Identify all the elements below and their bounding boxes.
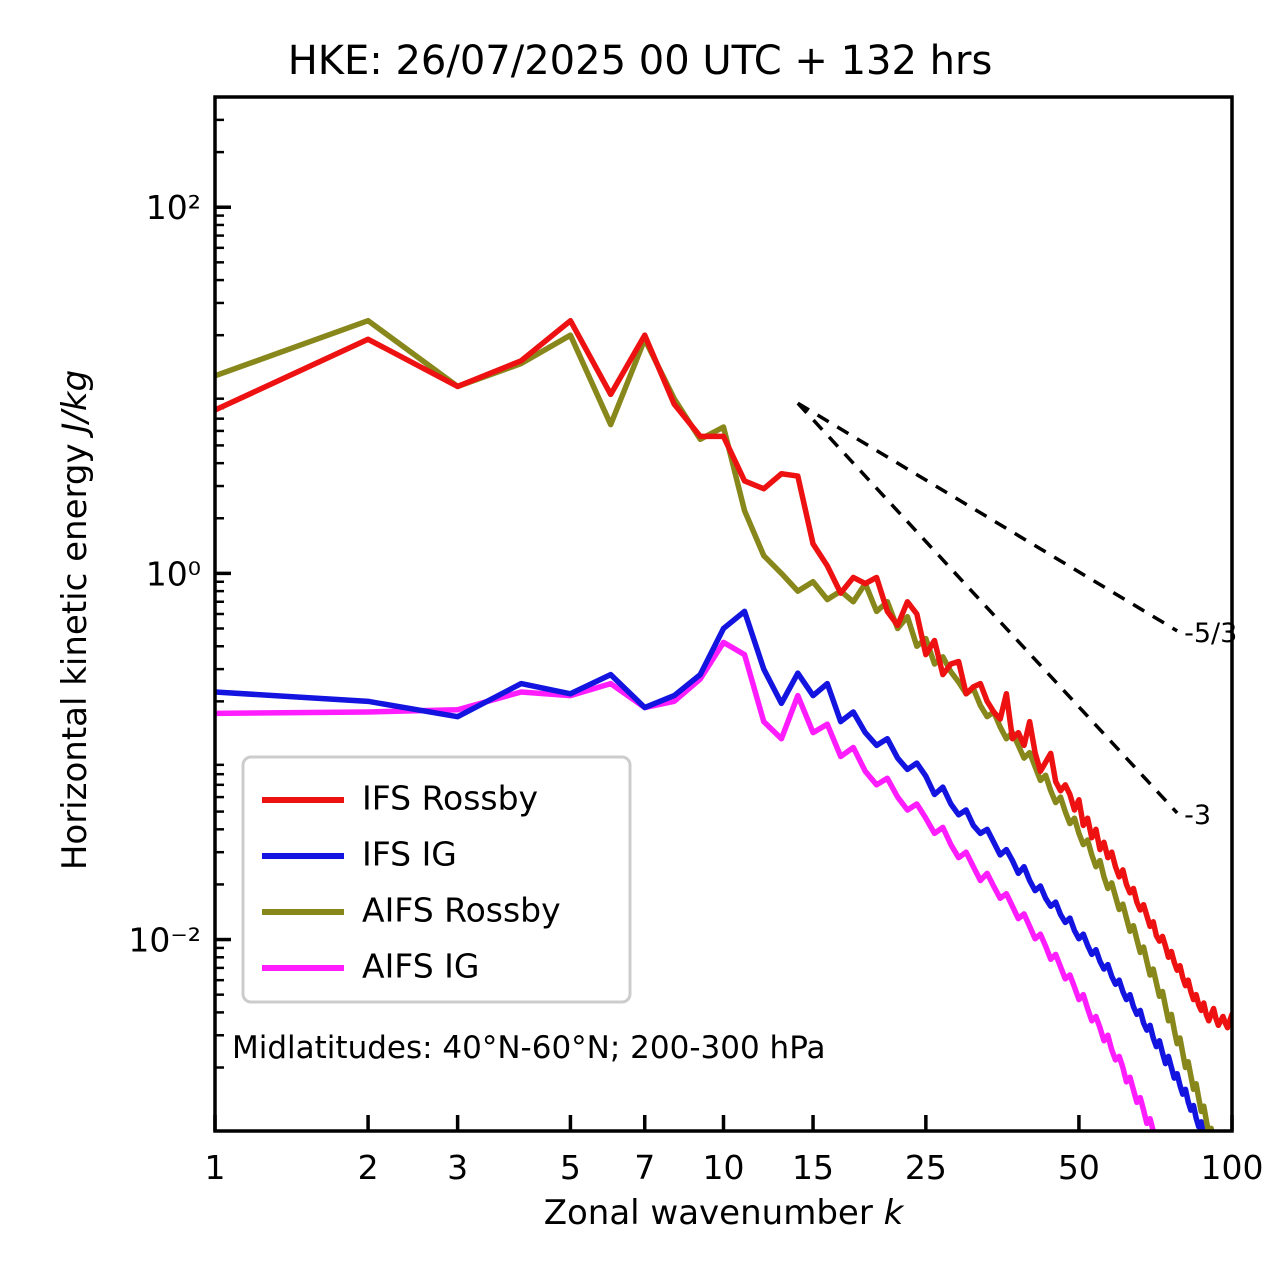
- x-tick-label: 3: [447, 1148, 468, 1187]
- figure-canvas: HKE: 26/07/2025 00 UTC + 132 hrs Horizon…: [0, 0, 1280, 1288]
- slope-label--3: -3: [1184, 800, 1211, 831]
- plot-area: -5/3-3 10²10⁰10⁻² 1235710152550100 IFS R…: [0, 0, 1280, 1288]
- y-axis-tick-labels: 10²10⁰10⁻²: [128, 188, 201, 959]
- slope-label--5-3: -5/3: [1184, 618, 1237, 649]
- y-tick-label: 10⁰: [146, 554, 201, 593]
- legend-label-aifs-ig: AIFS IG: [362, 947, 479, 986]
- y-tick-label: 10²: [146, 188, 201, 227]
- x-axis-ticks: [215, 1115, 1232, 1131]
- x-tick-label: 50: [1058, 1148, 1100, 1187]
- x-tick-label: 2: [358, 1148, 379, 1187]
- x-tick-label: 1: [205, 1148, 226, 1187]
- x-tick-label: 15: [792, 1148, 834, 1187]
- annotation-text: Midlatitudes: 40°N-60°N; 200-300 hPa: [232, 1030, 826, 1066]
- x-tick-label: 100: [1201, 1148, 1264, 1187]
- x-axis-tick-labels: 1235710152550100: [205, 1148, 1264, 1187]
- x-tick-label: 25: [905, 1148, 947, 1187]
- legend-label-ifs-ig: IFS IG: [362, 835, 457, 874]
- x-tick-label: 5: [560, 1148, 581, 1187]
- x-tick-label: 10: [703, 1148, 745, 1187]
- y-tick-label: 10⁻²: [128, 921, 201, 960]
- legend-label-aifs-rossby: AIFS Rossby: [362, 891, 561, 930]
- legend-label-ifs-rossby: IFS Rossby: [362, 779, 538, 818]
- x-tick-label: 7: [634, 1148, 655, 1187]
